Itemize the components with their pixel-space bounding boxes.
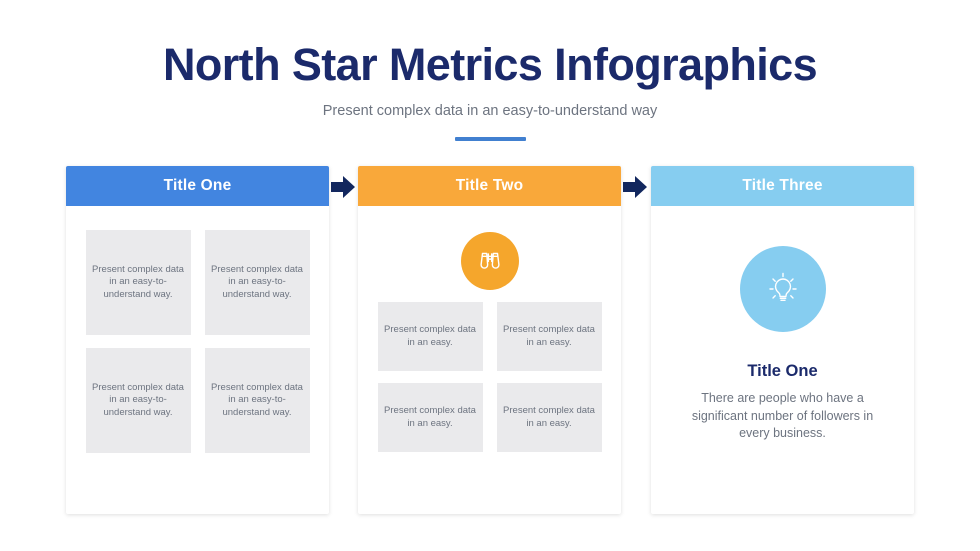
- card-one-title: Title One: [164, 177, 232, 195]
- card-three-header: Title Three: [651, 166, 914, 206]
- info-box-text: Present complex data in an easy.: [382, 324, 479, 349]
- arrow-right-icon: [623, 176, 647, 198]
- card-one-body: Present complex data in an easy-to-under…: [66, 206, 329, 514]
- card-three-title: Title Three: [742, 177, 822, 195]
- cards-row: Title One Present complex data in an eas…: [0, 166, 980, 526]
- card-three-body: Title One There are people who have a si…: [651, 246, 914, 514]
- card-one-header: Title One: [66, 166, 329, 206]
- card-title-two[interactable]: Title Two Present complex data in an eas…: [358, 166, 621, 514]
- card-title-one[interactable]: Title One Present complex data in an eas…: [66, 166, 329, 514]
- info-box-text: Present complex data in an easy-to-under…: [90, 264, 187, 302]
- binoculars-icon: [475, 246, 505, 276]
- info-box[interactable]: Present complex data in an easy.: [497, 302, 602, 371]
- card-two-header: Title Two: [358, 166, 621, 206]
- lightbulb-icon-circle: [740, 246, 826, 332]
- arrow-right-icon: [331, 176, 355, 198]
- card-three-body-text: There are people who have a significant …: [651, 381, 914, 443]
- page-title: North Star Metrics Infographics: [0, 0, 980, 92]
- info-box-text: Present complex data in an easy-to-under…: [209, 382, 306, 420]
- info-box-text: Present complex data in an easy.: [501, 405, 598, 430]
- info-box-text: Present complex data in an easy.: [382, 405, 479, 430]
- binoculars-icon-circle: [461, 232, 519, 290]
- page-subtitle: Present complex data in an easy-to-under…: [0, 92, 980, 121]
- card-three-heading: Title One: [651, 332, 914, 381]
- info-box[interactable]: Present complex data in an easy.: [378, 302, 483, 371]
- card-two-box-grid: Present complex data in an easy. Present…: [358, 290, 621, 452]
- card-two-body: Present complex data in an easy. Present…: [358, 232, 621, 514]
- info-box[interactable]: Present complex data in an easy-to-under…: [86, 348, 191, 453]
- info-box-text: Present complex data in an easy-to-under…: [209, 264, 306, 302]
- info-box[interactable]: Present complex data in an easy.: [378, 383, 483, 452]
- info-box-text: Present complex data in an easy.: [501, 324, 598, 349]
- page-header: North Star Metrics Infographics Present …: [0, 0, 980, 141]
- card-one-box-grid: Present complex data in an easy-to-under…: [66, 206, 329, 453]
- card-two-title: Title Two: [456, 177, 524, 195]
- info-box[interactable]: Present complex data in an easy-to-under…: [86, 230, 191, 335]
- title-underline-accent: [455, 137, 526, 141]
- info-box[interactable]: Present complex data in an easy-to-under…: [205, 348, 310, 453]
- card-title-three[interactable]: Title Three Title One There are peop: [651, 166, 914, 514]
- info-box[interactable]: Present complex data in an easy-to-under…: [205, 230, 310, 335]
- lightbulb-icon: [762, 268, 804, 310]
- info-box-text: Present complex data in an easy-to-under…: [90, 382, 187, 420]
- info-box[interactable]: Present complex data in an easy.: [497, 383, 602, 452]
